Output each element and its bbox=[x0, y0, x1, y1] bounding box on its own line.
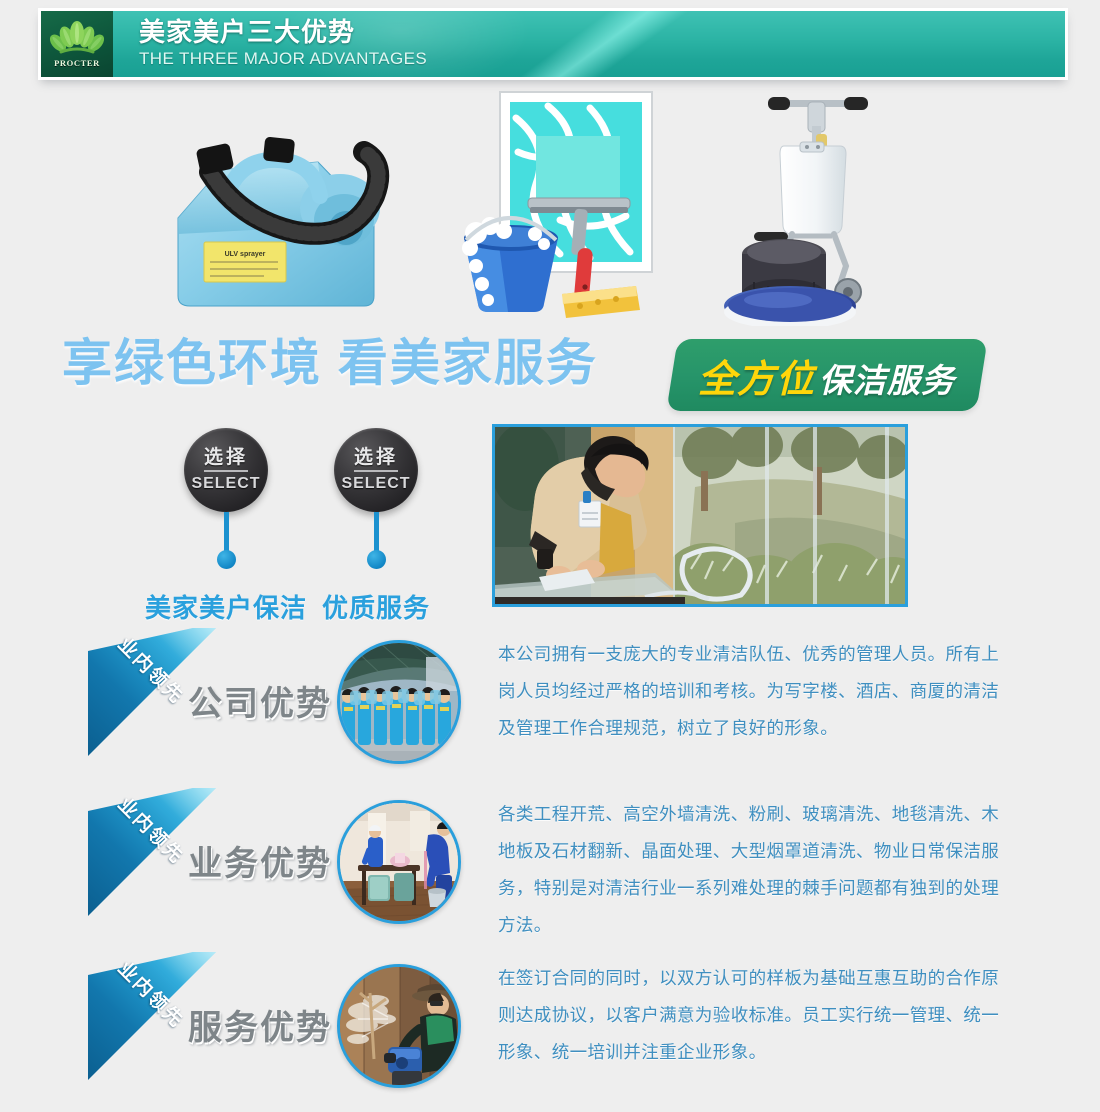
advantage-body-text: 在签订合同的同时，以双方认可的样板为基础互惠互助的合作原则达成协议，以客户满意为… bbox=[498, 960, 1010, 1071]
green-leaves-crown-icon bbox=[49, 21, 105, 57]
select-label-en: SELECT bbox=[341, 476, 410, 492]
advantage-title: 公司优势 bbox=[188, 676, 332, 725]
select-label-cn: 选择 bbox=[204, 448, 248, 472]
indoor-cleaning-photo bbox=[337, 800, 461, 924]
advantage-title: 服务优势 bbox=[188, 1000, 332, 1049]
ribbon-label: 业内领先 bbox=[113, 630, 191, 708]
window-cleaning-kit bbox=[440, 88, 670, 323]
company-logo: PROCTER bbox=[41, 11, 113, 77]
ribbon-label: 业内领先 bbox=[113, 954, 191, 1032]
badge-highlight-text: 全方位 bbox=[698, 348, 815, 403]
hero-photo-illustration bbox=[495, 427, 905, 604]
badge-inner: 全方位 保洁服务 bbox=[698, 348, 955, 403]
full-service-badge: 全方位 保洁服务 bbox=[666, 339, 987, 411]
floor-polisher-illustration bbox=[712, 86, 907, 326]
logo-wordmark: PROCTER bbox=[54, 58, 100, 68]
select-label-en: SELECT bbox=[191, 476, 260, 492]
worker-cleaning-glass-table-photo bbox=[492, 424, 908, 607]
pin-dot bbox=[367, 550, 386, 569]
wall-spraying-photo bbox=[337, 964, 461, 1088]
pin-caption-2: 优质服务 bbox=[322, 588, 430, 625]
advantage-body-text: 各类工程开荒、高空外墙清洗、粉刷、玻璃清洗、地毯清洗、木地板及石材翻新、晶面处理… bbox=[498, 796, 1010, 944]
indoor-cleaning-illustration bbox=[340, 803, 461, 924]
advantage-row-company: 业内领先 公司优势 bbox=[0, 628, 1100, 788]
banner-light-streak bbox=[388, 11, 812, 77]
ribbon-label: 业内领先 bbox=[113, 790, 191, 868]
spraying-illustration bbox=[340, 967, 461, 1088]
select-badge-circle: 选择 SELECT bbox=[334, 428, 418, 512]
banner-title-group: 美家美户三大优势 THE THREE MAJOR ADVANTAGES bbox=[113, 11, 427, 77]
svg-text:ULV sprayer: ULV sprayer bbox=[225, 251, 266, 258]
ulv-sprayer-illustration: ULV sprayer bbox=[168, 100, 403, 325]
advantage-row-service: 业内领先 服务优势 bbox=[0, 952, 1100, 1112]
promo-page: PROCTER 美家美户三大优势 THE THREE MAJOR ADVANTA… bbox=[0, 0, 1100, 1096]
ulv-sprayer-machine: ULV sprayer bbox=[168, 100, 403, 325]
floor-polisher-machine bbox=[712, 86, 907, 326]
pin-stem bbox=[374, 512, 379, 552]
team-photo-illustration bbox=[340, 643, 461, 764]
cleaning-team-photo bbox=[337, 640, 461, 764]
advantage-row-business: 业内领先 业务优势 bbox=[0, 788, 1100, 948]
pin-stem bbox=[224, 512, 229, 552]
advantage-title: 业务优势 bbox=[188, 836, 332, 885]
pin-dot bbox=[217, 550, 236, 569]
advantage-body-text: 本公司拥有一支庞大的专业清洁队伍、优秀的管理人员。所有上岗人员均经过严格的培训和… bbox=[498, 636, 1010, 747]
select-label-cn: 选择 bbox=[354, 448, 398, 472]
banner-title-cn: 美家美户三大优势 bbox=[139, 19, 427, 46]
badge-rest-text: 保洁服务 bbox=[820, 354, 956, 402]
banner-surface: PROCTER 美家美户三大优势 THE THREE MAJOR ADVANTA… bbox=[41, 11, 1065, 77]
product-image-row: ULV sprayer bbox=[0, 86, 1100, 336]
select-pin-1[interactable]: 选择 SELECT 美家美户保洁 bbox=[184, 428, 268, 569]
select-pin-2[interactable]: 选择 SELECT 优质服务 bbox=[334, 428, 418, 569]
select-badge-circle: 选择 SELECT bbox=[184, 428, 268, 512]
window-squeegee-illustration bbox=[440, 88, 670, 323]
header-banner: PROCTER 美家美户三大优势 THE THREE MAJOR ADVANTA… bbox=[38, 8, 1068, 80]
banner-title-en: THE THREE MAJOR ADVANTAGES bbox=[139, 49, 427, 69]
page-headline: 享绿色环境 看美家服务 bbox=[62, 338, 598, 388]
pin-caption-1: 美家美户保洁 bbox=[145, 588, 307, 625]
